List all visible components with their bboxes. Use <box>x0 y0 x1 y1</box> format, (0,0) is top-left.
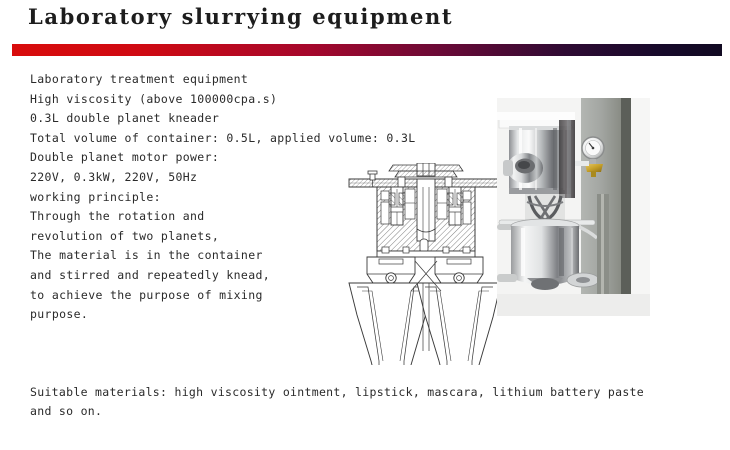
footer-line: Suitable materials: high viscosity ointm… <box>30 383 710 402</box>
spec-line: purpose. <box>30 305 360 325</box>
specification-text-block: Laboratory treatment equipment High visc… <box>30 70 360 325</box>
spec-line: working principle: <box>30 188 360 208</box>
stainless-steel-mixer-photo <box>497 98 650 316</box>
spec-line: Total volume of container: 0.5L, applied… <box>30 129 360 149</box>
footer-line: and so on. <box>30 402 710 421</box>
spec-line: High viscosity (above 100000cpa.s) <box>30 90 360 110</box>
spec-line: The material is in the container <box>30 246 360 266</box>
page-title: Laboratory slurrying equipment <box>28 4 453 29</box>
spec-line: 220V, 0.3kW, 220V, 50Hz <box>30 168 360 188</box>
spec-line: Double planet motor power: <box>30 148 360 168</box>
spec-line: Through the rotation and <box>30 207 360 227</box>
suitable-materials-note: Suitable materials: high viscosity ointm… <box>30 383 710 421</box>
gradient-divider-bar <box>12 44 722 56</box>
double-planetary-mixer-cross-section-drawing <box>337 163 515 365</box>
spec-line: Laboratory treatment equipment <box>30 70 360 90</box>
spec-line: and stirred and repeatedly knead, <box>30 266 360 286</box>
spec-line: revolution of two planets, <box>30 227 360 247</box>
spec-line: 0.3L double planet kneader <box>30 109 360 129</box>
spec-line: to achieve the purpose of mixing <box>30 286 360 306</box>
